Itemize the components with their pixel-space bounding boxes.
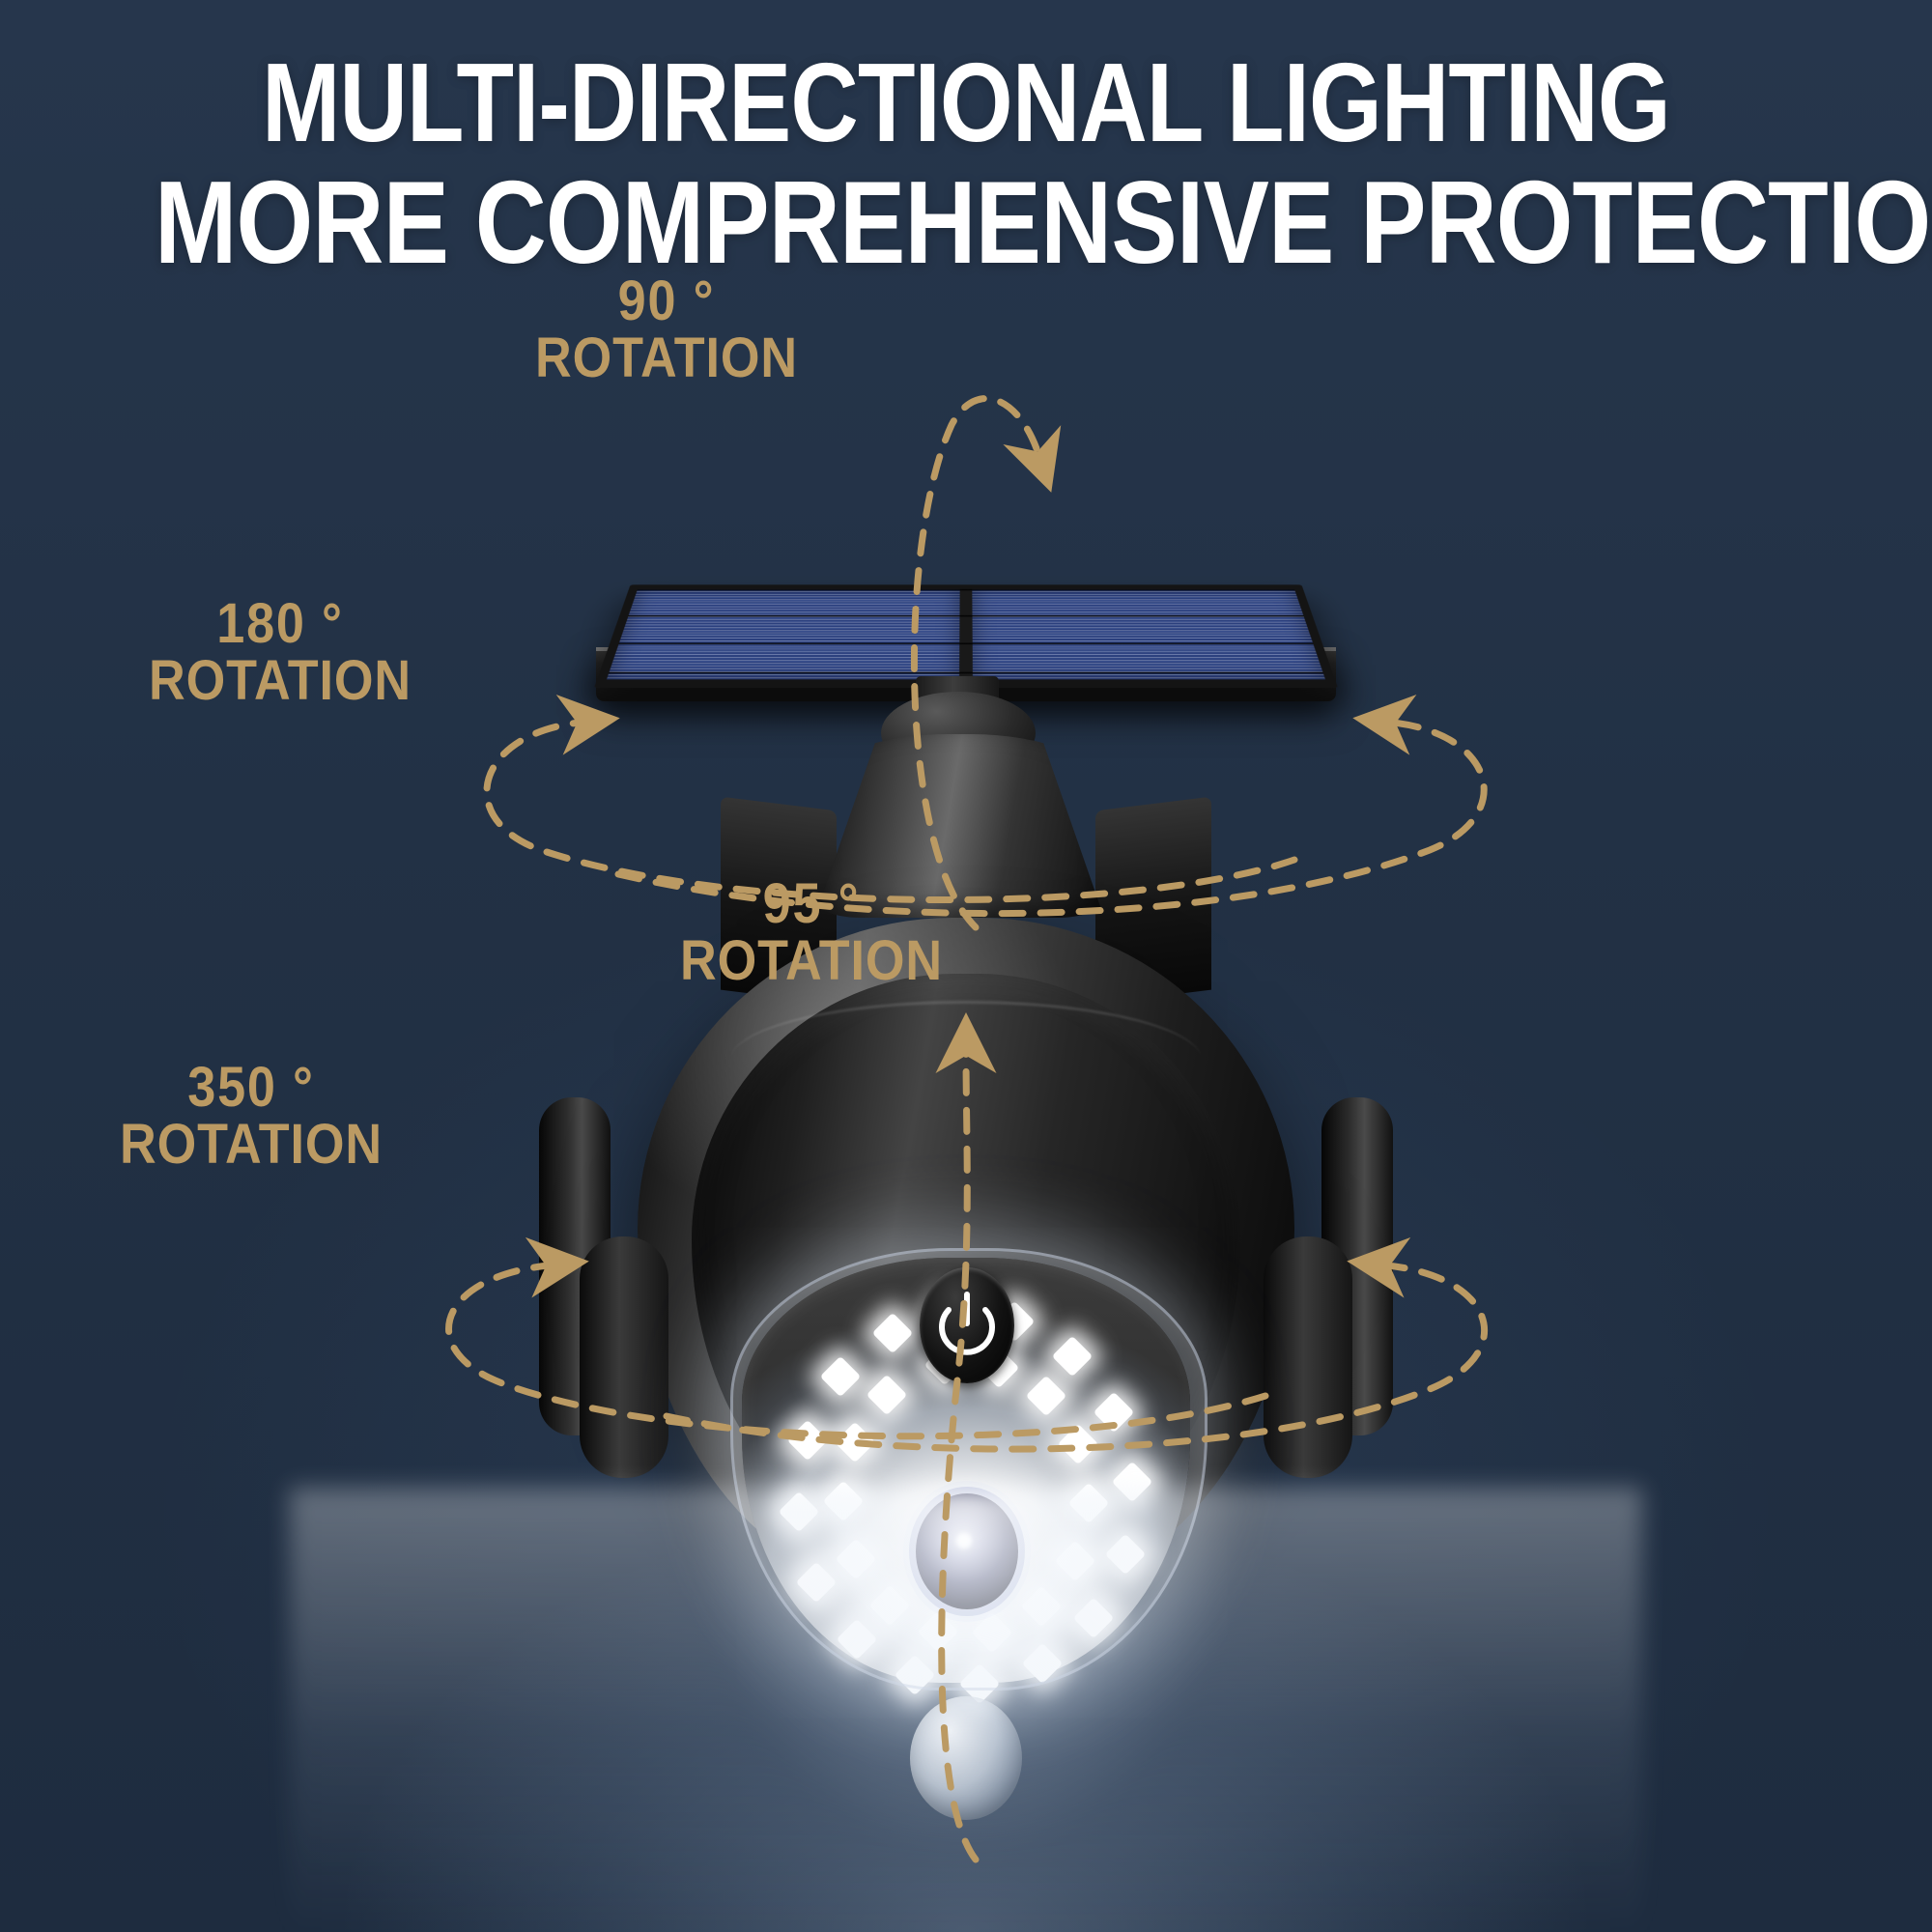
callout-degrees: 90 ° bbox=[519, 272, 814, 329]
callout-head-tilt: 95 ° ROTATION bbox=[664, 875, 959, 989]
dome-side-ear-left bbox=[580, 1236, 668, 1478]
solar-cell-group bbox=[607, 589, 1325, 680]
callout-rotation-label: ROTATION bbox=[103, 1116, 399, 1173]
callout-rotation-label: ROTATION bbox=[132, 652, 428, 709]
callout-panel-swivel: 180 ° ROTATION bbox=[132, 595, 428, 709]
solar-cell-right bbox=[972, 589, 1325, 680]
callout-degrees: 350 ° bbox=[103, 1059, 399, 1116]
callout-panel-tilt: 90 ° ROTATION bbox=[519, 272, 814, 386]
headline-line-2: MORE COMPREHENSIVE PROTECTION bbox=[155, 161, 1777, 284]
camera-lens bbox=[916, 1493, 1018, 1609]
callout-degrees: 180 ° bbox=[132, 595, 428, 652]
page-title: MULTI-DIRECTIONAL LIGHTING MORE COMPREHE… bbox=[155, 44, 1777, 284]
poster-canvas: MULTI-DIRECTIONAL LIGHTING MORE COMPREHE… bbox=[0, 0, 1932, 1932]
callout-head-pan: 350 ° ROTATION bbox=[103, 1059, 399, 1173]
dome-groove bbox=[730, 1001, 1202, 1120]
dome-side-ear-right bbox=[1264, 1236, 1352, 1478]
pir-motion-sensor bbox=[910, 1696, 1022, 1820]
callout-rotation-label: ROTATION bbox=[519, 329, 814, 386]
solar-panel-face bbox=[594, 584, 1338, 688]
power-icon bbox=[920, 1267, 1014, 1383]
callout-rotation-label: ROTATION bbox=[664, 932, 959, 989]
callout-degrees: 95 ° bbox=[664, 875, 959, 932]
camera-dome bbox=[638, 918, 1294, 1652]
headline-line-1: MULTI-DIRECTIONAL LIGHTING bbox=[262, 40, 1670, 165]
power-button[interactable] bbox=[920, 1267, 1014, 1383]
